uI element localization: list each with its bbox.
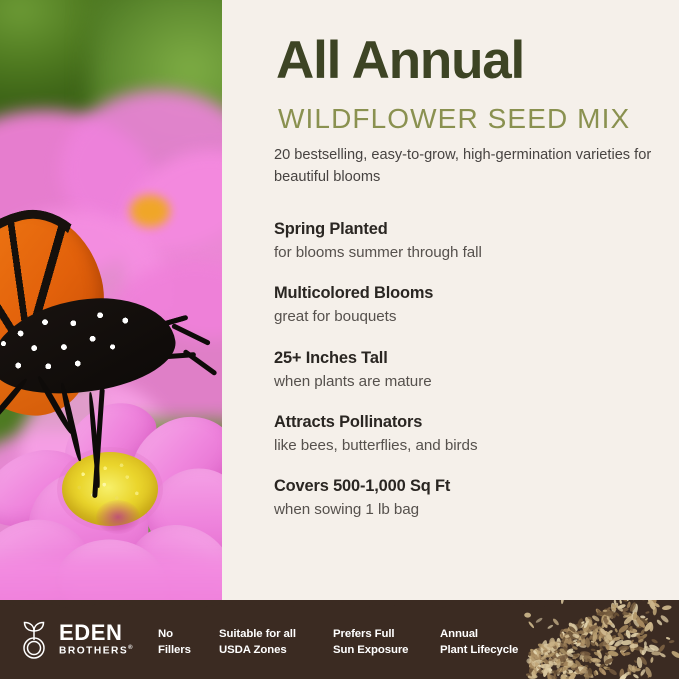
feature-title: 25+ Inches Tall <box>274 348 674 369</box>
brand-subname: BROTHERS® <box>59 645 134 657</box>
badge-no-fillers: No Fillers <box>158 626 191 659</box>
feature-subtitle: like bees, butterflies, and birds <box>274 435 674 456</box>
product-subheadline: WILDFLOWER SEED MIX <box>278 104 678 135</box>
feature-item: Covers 500-1,000 Sq Ft when sowing 1 lb … <box>274 476 674 520</box>
feature-subtitle: when plants are mature <box>274 371 674 392</box>
brand-name: EDEN <box>59 622 134 644</box>
feature-list: Spring Planted for blooms summer through… <box>274 219 674 540</box>
blurred-flower-center <box>130 195 170 227</box>
product-infographic: All Annual WILDFLOWER SEED MIX 20 bestse… <box>0 0 679 679</box>
brand-logo: EDEN BROTHERS® <box>18 618 134 660</box>
feature-item: 25+ Inches Tall when plants are mature <box>274 348 674 392</box>
badge-line1: Annual <box>440 626 518 642</box>
info-panel: All Annual WILDFLOWER SEED MIX 20 bestse… <box>222 0 679 610</box>
badge-plant-lifecycle: Annual Plant Lifecycle <box>440 626 518 659</box>
feature-item: Multicolored Blooms great for bouquets <box>274 283 674 327</box>
feature-subtitle: when sowing 1 lb bag <box>274 499 674 520</box>
footer-bar: EDEN BROTHERS® No Fillers Suitable for a… <box>0 600 679 679</box>
seedling-sprout-icon <box>18 618 52 660</box>
badge-line1: Suitable for all <box>219 626 296 642</box>
badge-line2: Sun Exposure <box>333 642 408 658</box>
trademark-symbol: ® <box>128 645 134 651</box>
badge-line1: No <box>158 626 191 642</box>
brand-subname-text: BROTHERS <box>59 645 128 656</box>
badge-line2: Plant Lifecycle <box>440 642 518 658</box>
feature-subtitle: great for bouquets <box>274 306 674 327</box>
feature-item: Spring Planted for blooms summer through… <box>274 219 674 263</box>
badge-line2: Fillers <box>158 642 191 658</box>
feature-title: Spring Planted <box>274 219 674 240</box>
product-photo <box>0 0 222 610</box>
feature-title: Multicolored Blooms <box>274 283 674 304</box>
feature-title: Attracts Pollinators <box>274 412 674 433</box>
brand-wordmark: EDEN BROTHERS® <box>59 622 134 657</box>
badge-sun-exposure: Prefers Full Sun Exposure <box>333 626 408 659</box>
badge-line1: Prefers Full <box>333 626 408 642</box>
product-headline: All Annual <box>276 34 676 88</box>
flower-center-shadow <box>96 500 140 534</box>
badge-usda-zones: Suitable for all USDA Zones <box>219 626 296 659</box>
torn-soil-edge <box>0 600 679 613</box>
product-description: 20 bestselling, easy-to-grow, high-germi… <box>274 145 664 188</box>
badge-line2: USDA Zones <box>219 642 296 658</box>
feature-subtitle: for blooms summer through fall <box>274 242 674 263</box>
feature-item: Attracts Pollinators like bees, butterfl… <box>274 412 674 456</box>
feature-title: Covers 500-1,000 Sq Ft <box>274 476 674 497</box>
